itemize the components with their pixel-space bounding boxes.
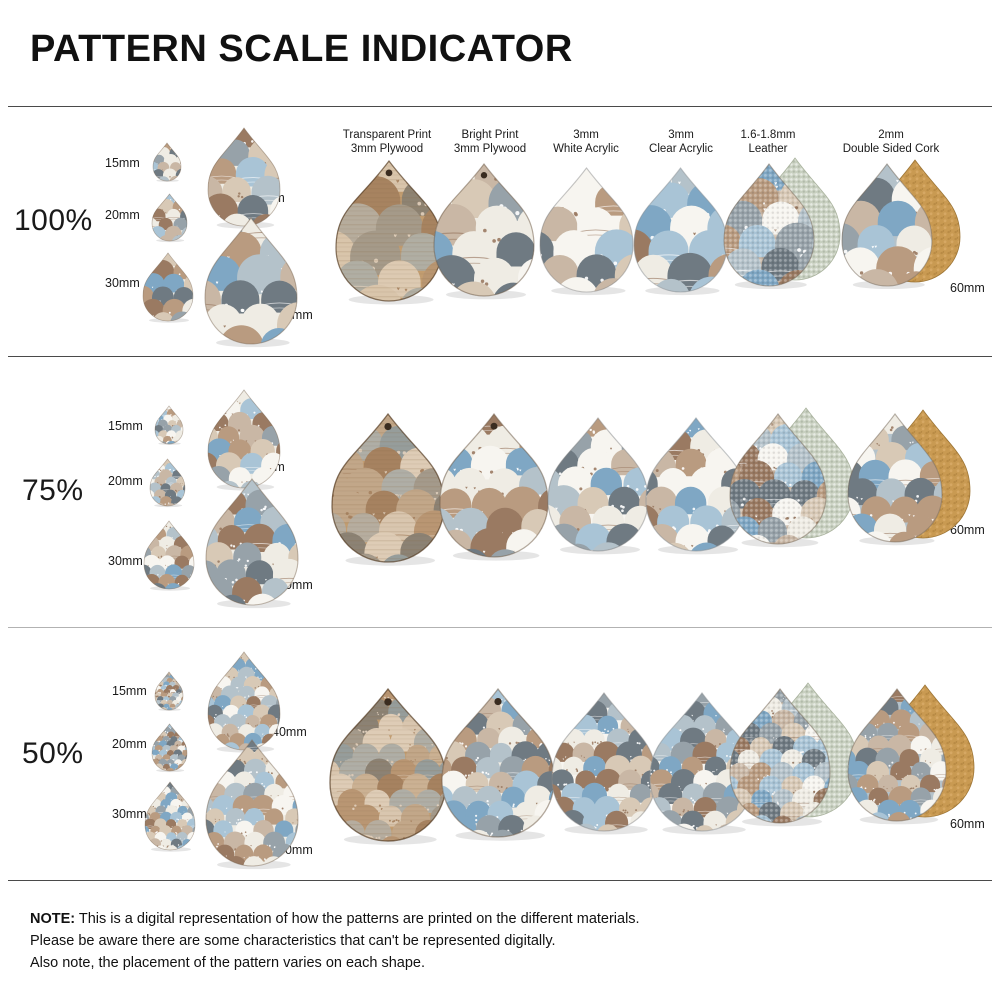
size-label-20mm: 20mm (108, 474, 143, 488)
size-sample-drop-15mm-50 (155, 672, 189, 718)
size-label-15mm: 15mm (105, 156, 140, 170)
material-drop-bright-print-plywood-75 (440, 414, 554, 565)
size-label-15mm: 15mm (112, 684, 147, 698)
size-sample-drop-50mm-50 (206, 740, 304, 874)
size-label-30mm: 30mm (108, 554, 143, 568)
material-drop-clear-acrylic-100 (634, 168, 733, 300)
size-sample-drop-20mm-50 (152, 724, 193, 779)
page-title: PATTERN SCALE INDICATOR (30, 28, 573, 71)
size-sample-drop-20mm-100 (152, 194, 193, 249)
note-text-1: This is a digital representation of how … (75, 911, 639, 927)
size-sample-drop-20mm-75 (150, 459, 191, 514)
note-line-1: NOTE: This is a digital representation o… (30, 908, 640, 930)
size-sample-drop-50mm-75 (206, 479, 304, 613)
material-drop-transparent-print-plywood-100 (336, 161, 448, 309)
material-drop-double-sided-cork-50 (848, 689, 980, 833)
size-label-30mm: 30mm (105, 276, 140, 290)
material-drop-leather-50 (730, 689, 864, 837)
size-sample-drop-30mm-75 (144, 521, 200, 597)
material-drop-double-sided-cork-100 (842, 164, 966, 298)
scale-label-50: 50% (22, 737, 84, 771)
note-line-3: Also note, the placement of the pattern … (30, 952, 640, 974)
material-drop-leather-100 (724, 164, 846, 300)
size-sample-drop-30mm-100 (143, 253, 199, 329)
size-sample-drop-15mm-100 (153, 143, 187, 189)
note-line-2: Please be aware there are some character… (30, 930, 640, 952)
material-drop-white-acrylic-75 (548, 418, 654, 559)
material-drop-white-acrylic-50 (552, 693, 662, 839)
size-sample-drop-15mm-75 (155, 406, 189, 452)
note-label: NOTE: (30, 911, 75, 927)
material-drop-double-sided-cork-75 (848, 414, 976, 554)
material-drop-leather-75 (730, 414, 860, 558)
size-label-20mm: 20mm (112, 737, 147, 751)
size-sample-drop-50mm-100 (205, 218, 303, 352)
note-block: NOTE: This is a digital representation o… (30, 908, 640, 974)
material-drop-transparent-print-plywood-50 (330, 689, 452, 849)
size-label-30mm: 30mm (112, 807, 147, 821)
scale-label-75: 75% (22, 474, 84, 508)
size-label-20mm: 20mm (105, 208, 140, 222)
material-drop-bright-print-plywood-100 (434, 164, 540, 304)
size-sample-drop-30mm-50 (145, 782, 201, 858)
material-drop-bright-print-plywood-50 (442, 689, 560, 845)
pattern-scale-indicator-page: PATTERN SCALE INDICATOR Transparent Prin… (0, 0, 1000, 1000)
scale-label-100: 100% (14, 204, 93, 238)
size-label-15mm: 15mm (108, 419, 143, 433)
divider-bottom (8, 880, 992, 881)
material-drop-transparent-print-plywood-75 (332, 414, 450, 570)
material-drop-white-acrylic-100 (540, 168, 639, 300)
